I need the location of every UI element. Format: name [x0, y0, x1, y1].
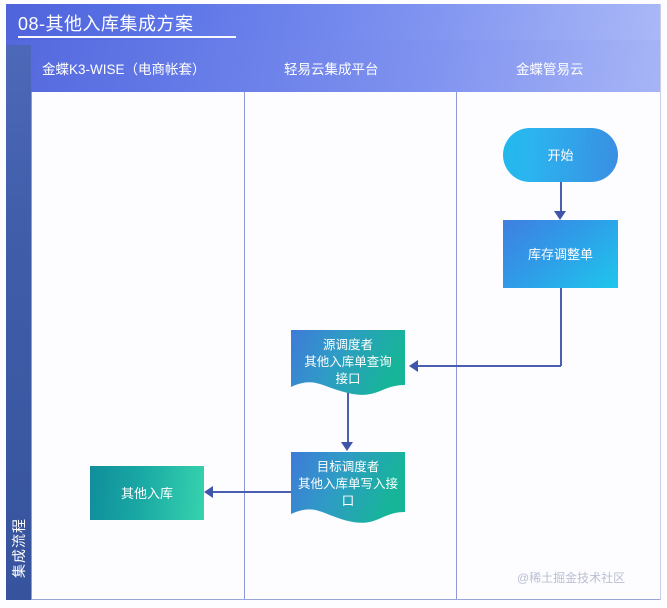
arrowhead-down-stock [554, 211, 566, 220]
frame-right-edge [660, 4, 661, 600]
arrowhead-left-inbound [204, 486, 213, 498]
node-stock-adjustment-order-label: 库存调整单 [528, 246, 593, 263]
column-header-guanyiyun: 金蝶管易云 [516, 58, 584, 78]
node-other-inbound-label: 其他入库 [121, 485, 173, 502]
column-divider-2 [456, 92, 457, 600]
arrowhead-left-source [409, 360, 418, 372]
node-source-scheduler-line2: 其他入库单查询 [291, 354, 405, 371]
connector-source-to-target [347, 392, 349, 444]
node-target-scheduler[interactable]: 目标调度者 其他入库单写入接 口 [291, 452, 405, 526]
node-stock-adjustment-order[interactable]: 库存调整单 [503, 220, 618, 288]
column-header-qingyiyun: 轻易云集成平台 [284, 58, 379, 78]
title-underline [18, 36, 236, 38]
node-source-scheduler-labels: 源调度者 其他入库单查询 接口 [291, 330, 405, 388]
node-source-scheduler-line1: 源调度者 [291, 337, 405, 354]
column-header-k3wise: 金蝶K3-WISE（电商帐套） [42, 58, 206, 78]
bottom-rule [31, 599, 661, 600]
column-divider-1 [244, 92, 245, 600]
lane-label: 集成流程 [9, 518, 29, 578]
connector-stock-to-source [418, 365, 561, 367]
watermark: @稀土掘金技术社区 [517, 569, 625, 586]
node-start[interactable]: 开始 [503, 128, 618, 182]
arrowhead-down-target [341, 442, 353, 451]
node-target-scheduler-line2: 其他入库单写入接 [291, 476, 405, 493]
connector-stock-down [560, 288, 562, 366]
node-source-scheduler[interactable]: 源调度者 其他入库单查询 接口 [291, 330, 405, 398]
node-other-inbound[interactable]: 其他入库 [90, 466, 204, 520]
connector-target-to-inbound [213, 491, 293, 493]
node-target-scheduler-labels: 目标调度者 其他入库单写入接 口 [291, 452, 405, 510]
diagram-canvas: 08-其他入库集成方案 金蝶K3-WISE（电商帐套） 轻易云集成平台 金蝶管易… [0, 0, 667, 608]
lane-label-wrapper: 集成流程 [6, 498, 31, 598]
node-start-label: 开始 [547, 147, 573, 164]
connector-start-to-stock [560, 182, 562, 213]
node-target-scheduler-line3: 口 [291, 493, 405, 510]
node-target-scheduler-line1: 目标调度者 [291, 459, 405, 476]
node-source-scheduler-line3: 接口 [291, 371, 405, 388]
page-title: 08-其他入库集成方案 [18, 10, 194, 36]
